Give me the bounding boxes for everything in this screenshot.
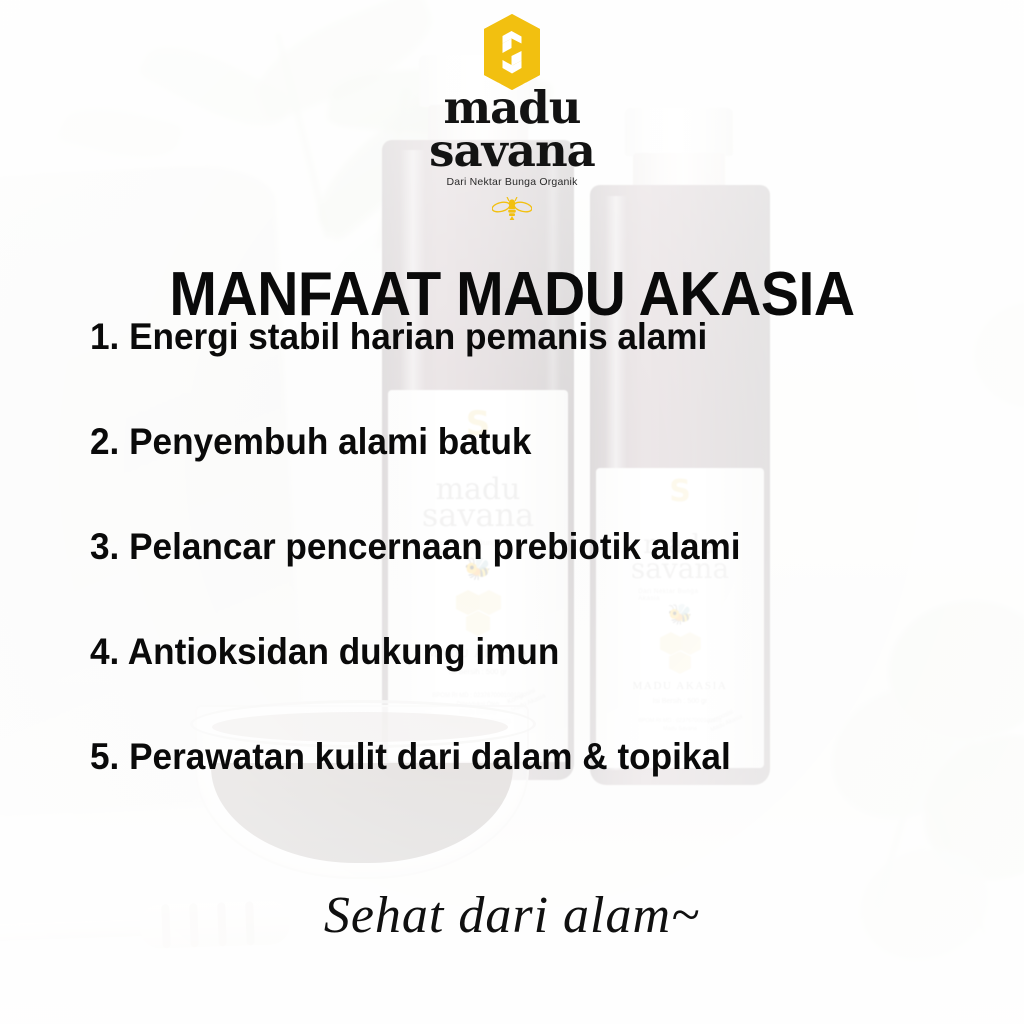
bee-icon: [0, 197, 1024, 228]
list-item: 4. Antioksidan dukung imun: [90, 633, 994, 670]
benefits-list: 1. Energi stabil harian pemanis alami 2.…: [90, 318, 994, 843]
list-item-text: 5. Perawatan kulit dari dalam & topikal: [90, 738, 731, 775]
list-item: 2. Penyembuh alami batuk: [90, 423, 994, 460]
honeycomb-s-logo-icon: [484, 14, 540, 90]
list-item-text: 2. Penyembuh alami batuk: [90, 423, 531, 460]
poster-content: madu savana Dari Nektar Bunga Organik MA…: [0, 0, 1024, 1024]
list-item-text: 3. Pelancar pencernaan prebiotik alami: [90, 528, 741, 565]
list-item-text: 4. Antioksidan dukung imun: [90, 633, 559, 670]
list-item: 3. Pelancar pencernaan prebiotik alami: [90, 528, 994, 565]
list-item: 5. Perawatan kulit dari dalam & topikal: [90, 738, 994, 775]
poster-canvas: S madu savana Dari Nektar Bunga Akasia 🐝…: [0, 0, 1024, 1024]
list-item-text: 1. Energi stabil harian pemanis alami: [90, 318, 707, 355]
closing-tagline: Sehat dari alam~: [0, 886, 1024, 945]
brand-name-line2: savana: [0, 129, 1024, 172]
brand-name-line1: madu: [0, 86, 1024, 129]
list-item: 1. Energi stabil harian pemanis alami: [90, 318, 994, 355]
brand-lockup: madu savana Dari Nektar Bunga Organik: [0, 14, 1024, 228]
brand-tagline: Dari Nektar Bunga Organik: [0, 176, 1024, 188]
